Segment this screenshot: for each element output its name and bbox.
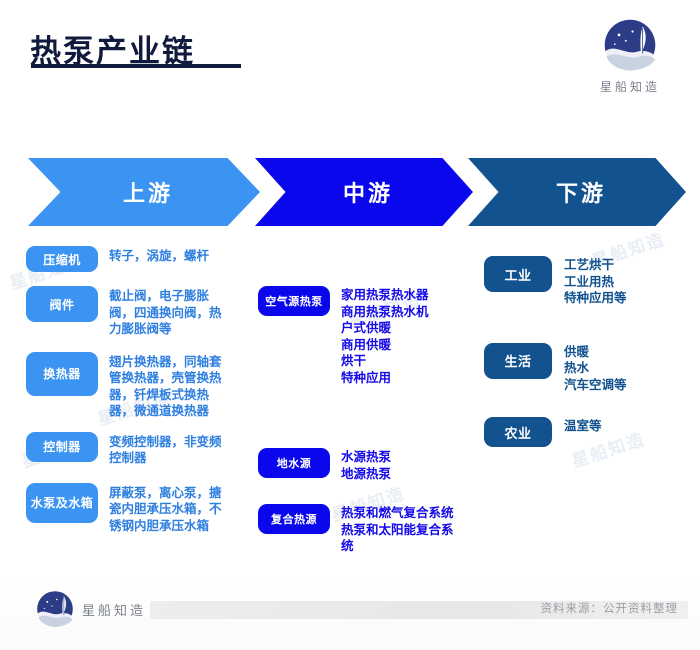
category-pill[interactable]: 阀件	[26, 286, 98, 322]
category-pill[interactable]: 空气源热泵	[258, 286, 330, 316]
stage-arrow-label: 上游	[123, 176, 173, 208]
stage-arrow-upstream: 上游	[28, 158, 260, 226]
category-pill[interactable]: 水泵及水箱	[26, 483, 98, 523]
detail-line: 屏蔽泵，离心泵，搪	[109, 485, 266, 502]
detail-line: 特种应用	[341, 370, 480, 387]
detail-line: 统	[341, 538, 480, 555]
detail-line: 热泵和燃气复合系统	[341, 505, 480, 522]
detail-line: 热水	[564, 360, 694, 377]
infographic-page: 星船知造 星船知造 星船知造 星船知造 星船知造 星船知造 星船知造 热泵产业链…	[0, 0, 700, 650]
chain-row[interactable]: 生活供暖热水汽车空调等	[484, 343, 694, 394]
footer-brand-name: 星船知造	[82, 600, 146, 619]
stage-arrows: 上游 中游 下游	[0, 158, 700, 226]
brand-name: 星船知造	[582, 78, 678, 95]
stage-arrow-midstream: 中游	[255, 158, 473, 226]
chain-row[interactable]: 复合热源热泵和燃气复合系统热泵和太阳能复合系统	[258, 504, 480, 555]
detail-line: 温室等	[564, 418, 694, 435]
category-details: 水源热泵地源热泵	[330, 448, 480, 482]
category-details: 截止阀，电子膨胀阀，四通换向阀，热力膨胀阀等	[98, 286, 266, 338]
detail-line: 器，微通道换热器	[109, 403, 266, 420]
detail-line: 瓷内胆承压水箱，不	[109, 501, 266, 518]
detail-line: 阀，四通换向阀，热	[109, 305, 266, 322]
detail-line: 力膨胀阀等	[109, 321, 266, 338]
category-details: 翅片换热器，同轴套管换热器，壳管换热器，钎焊板式换热器，微通道换热器	[98, 352, 266, 420]
detail-line: 商用供暖	[341, 337, 480, 354]
category-pill[interactable]: 压缩机	[26, 246, 98, 272]
brand-logo: 星船知造	[582, 18, 678, 95]
detail-line: 截止阀，电子膨胀	[109, 288, 266, 305]
chain-row[interactable]: 农业温室等	[484, 417, 694, 447]
footer-brand: 星船知造	[36, 590, 146, 628]
detail-line: 水源热泵	[341, 449, 480, 466]
chain-row[interactable]: 控制器变频控制器，非变频控制器	[26, 432, 266, 467]
category-details: 变频控制器，非变频控制器	[98, 432, 266, 467]
category-details: 工艺烘干工业用热特种应用等	[552, 256, 694, 307]
chain-row[interactable]: 地水源水源热泵地源热泵	[258, 448, 480, 482]
chain-row[interactable]: 阀件截止阀，电子膨胀阀，四通换向阀，热力膨胀阀等	[26, 286, 266, 338]
category-details: 热泵和燃气复合系统热泵和太阳能复合系统	[330, 504, 480, 555]
category-pill[interactable]: 控制器	[26, 432, 98, 462]
detail-line: 管换热器，壳管换热	[109, 370, 266, 387]
category-pill[interactable]: 生活	[484, 343, 552, 379]
chain-row[interactable]: 空气源热泵家用热泵热水器商用热泵热水机户式供暖商用供暖烘干特种应用	[258, 286, 480, 386]
category-pill[interactable]: 复合热源	[258, 504, 330, 534]
chain-row[interactable]: 压缩机转子，涡旋，螺杆	[26, 246, 266, 272]
detail-line: 器，钎焊板式换热	[109, 387, 266, 404]
detail-line: 热泵和太阳能复合系	[341, 522, 480, 539]
detail-line: 控制器	[109, 450, 266, 467]
detail-line: 商用热泵热水机	[341, 304, 480, 321]
category-details: 转子，涡旋，螺杆	[98, 246, 266, 265]
detail-line: 户式供暖	[341, 320, 480, 337]
detail-line: 烘干	[341, 353, 480, 370]
detail-line: 工艺烘干	[564, 257, 694, 274]
detail-line: 工业用热	[564, 274, 694, 291]
chain-row[interactable]: 水泵及水箱屏蔽泵，离心泵，搪瓷内胆承压水箱，不锈钢内胆承压水箱	[26, 483, 266, 535]
page-footer: 星船知造 资料来源：公开资料整理	[0, 576, 700, 650]
detail-line: 变频控制器，非变频	[109, 434, 266, 451]
footer-source: 资料来源：公开资料整理	[541, 600, 679, 616]
title-underline	[31, 64, 241, 68]
category-pill[interactable]: 地水源	[258, 448, 330, 478]
chain-row[interactable]: 工业工艺烘干工业用热特种应用等	[484, 256, 694, 307]
stage-arrow-downstream: 下游	[468, 158, 686, 226]
category-details: 家用热泵热水器商用热泵热水机户式供暖商用供暖烘干特种应用	[330, 286, 480, 386]
detail-line: 家用热泵热水器	[341, 287, 480, 304]
detail-line: 锈钢内胆承压水箱	[109, 518, 266, 535]
detail-line: 汽车空调等	[564, 377, 694, 394]
category-details: 屏蔽泵，离心泵，搪瓷内胆承压水箱，不锈钢内胆承压水箱	[98, 483, 266, 535]
category-pill[interactable]: 工业	[484, 256, 552, 292]
starship-circle-logo-icon	[603, 18, 657, 72]
column-downstream: 工业工艺烘干工业用热特种应用等生活供暖热水汽车空调等农业温室等	[484, 256, 694, 447]
category-pill[interactable]: 农业	[484, 417, 552, 447]
page-header: 热泵产业链 星船知造	[0, 0, 700, 130]
stage-arrow-label: 中游	[343, 176, 393, 208]
category-details: 温室等	[552, 417, 694, 435]
detail-line: 转子，涡旋，螺杆	[109, 248, 266, 265]
starship-circle-logo-icon	[36, 590, 74, 628]
detail-line: 翅片换热器，同轴套	[109, 354, 266, 371]
category-pill[interactable]: 换热器	[26, 352, 98, 396]
stage-arrow-label: 下游	[556, 176, 606, 208]
column-midstream: 空气源热泵家用热泵热水器商用热泵热水机户式供暖商用供暖烘干特种应用地水源水源热泵…	[258, 286, 480, 555]
detail-line: 地源热泵	[341, 466, 480, 483]
category-details: 供暖热水汽车空调等	[552, 343, 694, 394]
detail-line: 供暖	[564, 344, 694, 361]
column-upstream: 压缩机转子，涡旋，螺杆阀件截止阀，电子膨胀阀，四通换向阀，热力膨胀阀等换热器翅片…	[26, 246, 266, 534]
chain-row[interactable]: 换热器翅片换热器，同轴套管换热器，壳管换热器，钎焊板式换热器，微通道换热器	[26, 352, 266, 420]
detail-line: 特种应用等	[564, 290, 694, 307]
